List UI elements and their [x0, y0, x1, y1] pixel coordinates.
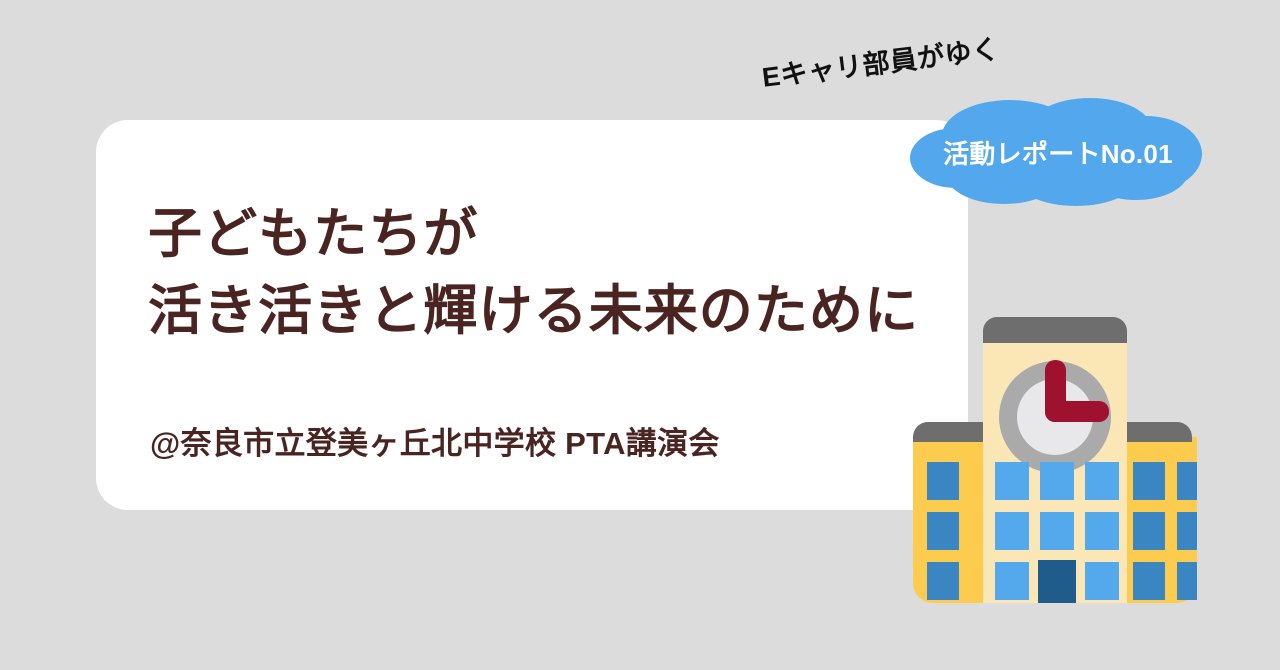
- page-subtitle: @奈良市立登美ヶ丘北中学校 PTA講演会: [150, 418, 720, 463]
- report-number-label: 活動レポートNo.01: [900, 96, 1210, 208]
- headline-line-2: 活き活きと輝ける未来のために: [148, 273, 938, 350]
- school-building-icon: [905, 312, 1205, 607]
- kicker-text: Eキャリ部員がゆく: [760, 27, 1002, 95]
- poster-canvas: Eキャリ部員がゆく 活動レポートNo.01 子どもたちが 活き活きと輝ける未来の…: [0, 0, 1280, 670]
- headline-line-1: 子どもたちが: [148, 196, 938, 273]
- school-building-illustration: [905, 312, 1205, 607]
- report-number-badge: 活動レポートNo.01: [900, 96, 1210, 208]
- page-title: 子どもたちが 活き活きと輝ける未来のために: [148, 196, 938, 349]
